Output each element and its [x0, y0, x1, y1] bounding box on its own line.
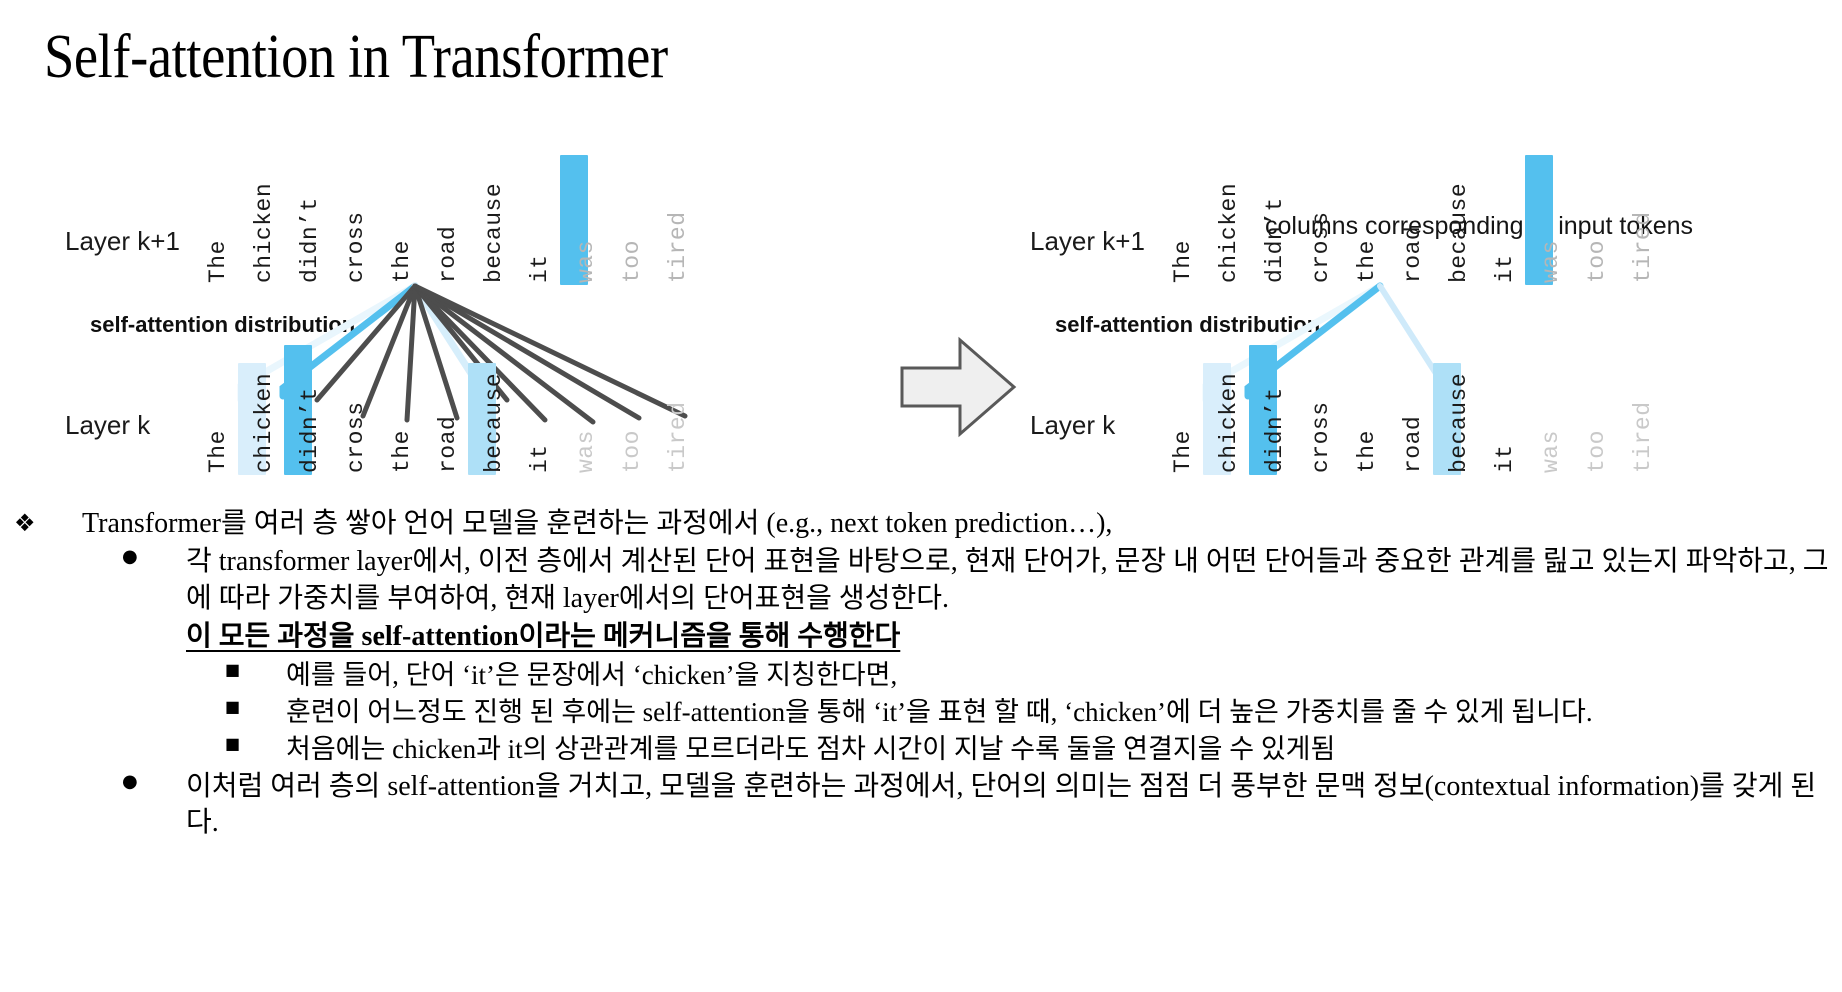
- token-label: tired: [661, 343, 695, 473]
- token-cell-right-bottom-10: tired: [1660, 345, 1694, 475]
- token-cell-left-top-10: tired: [695, 155, 729, 285]
- token-label: cross: [339, 343, 373, 473]
- token-highlight-bar: [698, 155, 726, 285]
- bullet-item: ■처음에는 chicken과 it의 상관관계를 모르더라도 점차 시간이 지날…: [0, 732, 1842, 767]
- token-label: The: [201, 153, 235, 283]
- token-label: chicken: [1212, 153, 1246, 283]
- token-label: didn’t: [1258, 343, 1292, 473]
- right-distribution-label: self-attention distribution: [1055, 312, 1320, 338]
- token-label: tired: [661, 153, 695, 283]
- token-label: road: [1396, 153, 1430, 283]
- bullet-item: ■훈련이 어느정도 진행 된 후에는 self-attention을 통해 ‘i…: [0, 695, 1842, 730]
- token-label: because: [477, 153, 511, 283]
- bullet-item: ●각 transformer layer에서, 이전 층에서 계산된 단어 표현…: [0, 544, 1842, 617]
- token-label: tired: [1626, 153, 1660, 283]
- bullet-marker-icon: ●: [122, 545, 138, 568]
- token-label: The: [201, 343, 235, 473]
- token-label: chicken: [1212, 343, 1246, 473]
- token-label: because: [1442, 343, 1476, 473]
- token-label: it: [523, 343, 557, 473]
- left-bottom-token-row: Thechickendidn’tcrosstheroadbecauseitwas…: [225, 345, 785, 475]
- figure-area: columns corresponding to input tokens La…: [0, 100, 1842, 500]
- bullet-item: ●이처럼 여러 층의 self-attention을 거치고, 모델을 훈련하는…: [0, 769, 1842, 842]
- left-layer-bottom-label: Layer k: [65, 410, 150, 441]
- token-label: road: [431, 153, 465, 283]
- token-label: the: [1350, 153, 1384, 283]
- token-highlight-bar: [698, 345, 726, 475]
- token-label: road: [1396, 343, 1430, 473]
- token-highlight-bar: [1663, 345, 1691, 475]
- token-label: it: [523, 153, 557, 283]
- token-label: The: [1166, 343, 1200, 473]
- token-label: tired: [1626, 343, 1660, 473]
- page-title: Self-attention in Transformer: [44, 26, 668, 88]
- bullet-marker-icon: ●: [122, 770, 138, 793]
- token-label: too: [1580, 153, 1614, 283]
- token-label: was: [1534, 343, 1568, 473]
- token-label: it: [1488, 343, 1522, 473]
- token-label: too: [615, 153, 649, 283]
- token-label: road: [431, 343, 465, 473]
- bullet-marker-icon: ❖: [14, 508, 36, 539]
- token-label: was: [569, 153, 603, 283]
- left-distribution-label: self-attention distribution: [90, 312, 355, 338]
- bullet-text: 예를 들어, 단어 ‘it’은 문장에서 ‘chicken’을 지칭한다면,: [286, 660, 897, 690]
- diagram-right: Layer k+1 Layer k self-attention distrib…: [1010, 100, 1842, 500]
- token-label: because: [477, 343, 511, 473]
- bullet-marker-icon: ■: [225, 660, 240, 681]
- bullet-text: Transformer를 여러 층 쌓아 언어 모델을 훈련하는 과정에서 (e…: [82, 508, 1112, 539]
- left-layer-top-label: Layer k+1: [65, 226, 180, 257]
- bullet-item: 이 모든 과정을 self-attention이라는 메커니즘을 통해 수행한다: [0, 619, 1842, 655]
- token-label: cross: [1304, 343, 1338, 473]
- token-label: The: [1166, 153, 1200, 283]
- bullet-text: 처음에는 chicken과 it의 상관관계를 모르더라도 점차 시간이 지날 …: [286, 734, 1335, 764]
- right-layer-top-label: Layer k+1: [1030, 226, 1145, 257]
- token-label: was: [1534, 153, 1568, 283]
- token-cell-right-top-10: tired: [1660, 155, 1694, 285]
- right-block-arrow-icon: [898, 332, 1018, 442]
- token-label: because: [1442, 153, 1476, 283]
- token-label: it: [1488, 153, 1522, 283]
- token-label: didn’t: [293, 343, 327, 473]
- bullet-item: ❖Transformer를 여러 층 쌓아 언어 모델을 훈련하는 과정에서 (…: [0, 506, 1842, 542]
- left-top-token-row: Thechickendidn’tcrosstheroadbecauseitwas…: [225, 155, 785, 285]
- token-label: cross: [1304, 153, 1338, 283]
- token-label: the: [1350, 343, 1384, 473]
- token-label: too: [615, 343, 649, 473]
- bullet-item: ■예를 들어, 단어 ‘it’은 문장에서 ‘chicken’을 지칭한다면,: [0, 658, 1842, 693]
- right-top-token-row: Thechickendidn’tcrosstheroadbecauseitwas…: [1190, 155, 1750, 285]
- token-label: chicken: [247, 343, 281, 473]
- bullet-text: 이 모든 과정을 self-attention이라는 메커니즘을 통해 수행한다: [186, 621, 900, 652]
- token-label: too: [1580, 343, 1614, 473]
- bullet-text: 이처럼 여러 층의 self-attention을 거치고, 모델을 훈련하는 …: [186, 771, 1816, 838]
- diagram-left: Layer k+1 Layer k self-attention distrib…: [45, 100, 905, 500]
- token-label: didn’t: [1258, 153, 1292, 283]
- token-label: didn’t: [293, 153, 327, 283]
- right-bottom-token-row: Thechickendidn’tcrosstheroadbecauseitwas…: [1190, 345, 1750, 475]
- bullet-marker-icon: ■: [225, 734, 240, 755]
- token-label: cross: [339, 153, 373, 283]
- right-layer-bottom-label: Layer k: [1030, 410, 1115, 441]
- bullet-marker-icon: ■: [225, 697, 240, 718]
- bullet-text: 훈련이 어느정도 진행 된 후에는 self-attention을 통해 ‘it…: [286, 697, 1593, 727]
- token-highlight-bar: [1663, 155, 1691, 285]
- token-label: the: [385, 343, 419, 473]
- token-label: was: [569, 343, 603, 473]
- bullet-text: 각 transformer layer에서, 이전 층에서 계산된 단어 표현을…: [186, 546, 1829, 613]
- token-label: chicken: [247, 153, 281, 283]
- token-label: the: [385, 153, 419, 283]
- body-bullet-list: ❖Transformer를 여러 층 쌓아 언어 모델을 훈련하는 과정에서 (…: [0, 506, 1842, 844]
- token-cell-left-bottom-10: tired: [695, 345, 729, 475]
